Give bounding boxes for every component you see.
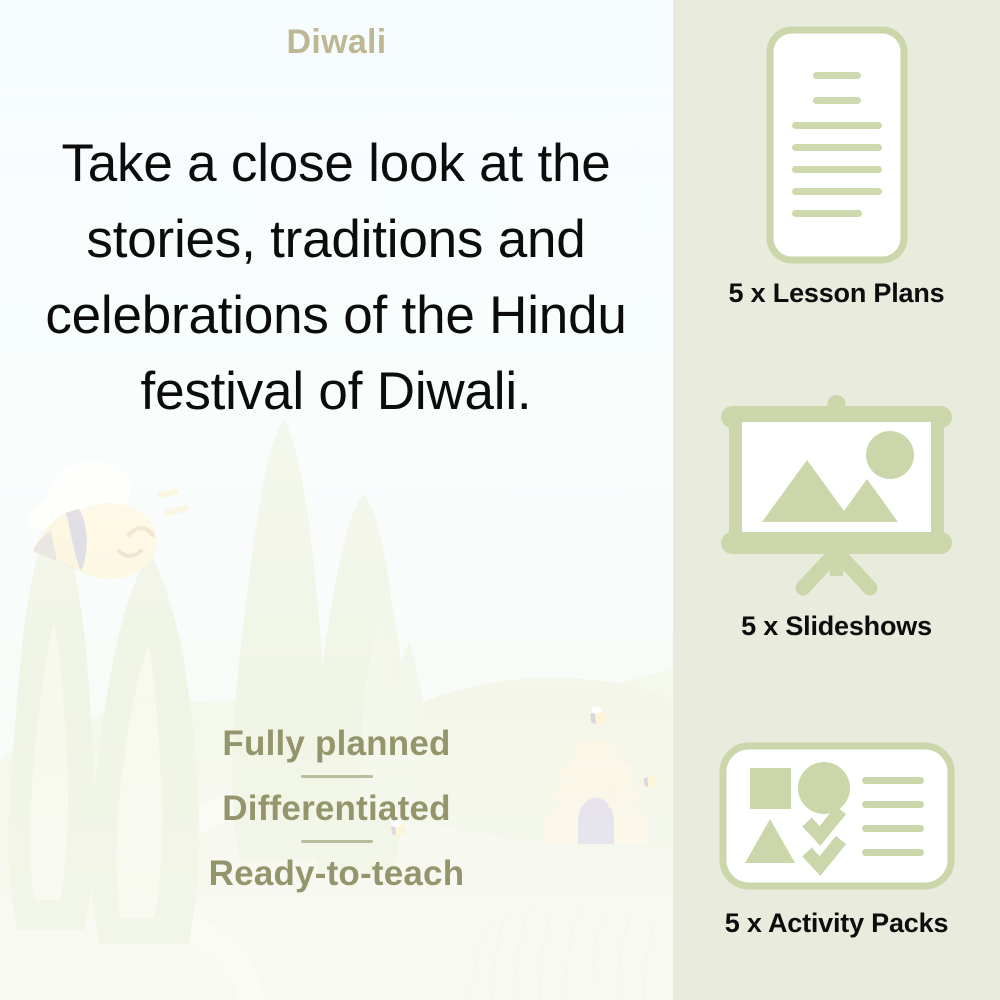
- page-kicker: Diwali: [0, 23, 673, 62]
- feature-label-slideshows: 5 x Slideshows: [673, 611, 1000, 642]
- activity-card-icon: [699, 726, 974, 894]
- document-icon: [737, 24, 937, 266]
- features-panel: 5 x Lesson Plans: [673, 0, 1000, 1000]
- feature-label-activity-packs: 5 x Activity Packs: [673, 908, 1000, 939]
- promise-item-3: Ready-to-teach: [0, 854, 673, 893]
- poster: Diwali Take a close look at the stories,…: [0, 0, 1000, 1000]
- promise-divider-2: [301, 840, 373, 843]
- left-panel: Diwali Take a close look at the stories,…: [0, 0, 673, 1000]
- feature-slideshows: 5 x Slideshows: [673, 392, 1000, 642]
- promise-divider-1: [301, 775, 373, 778]
- feature-activity-packs: 5 x Activity Packs: [673, 726, 1000, 939]
- feature-label-lesson-plans: 5 x Lesson Plans: [673, 278, 1000, 309]
- promise-item-2: Differentiated: [0, 789, 673, 828]
- page-headline: Take a close look at the stories, tradit…: [26, 126, 646, 430]
- presentation-screen-icon: [699, 392, 974, 597]
- promise-item-1: Fully planned: [0, 724, 673, 763]
- feature-lesson-plans: 5 x Lesson Plans: [673, 24, 1000, 309]
- promise-list: Fully planned Differentiated Ready-to-te…: [0, 724, 673, 894]
